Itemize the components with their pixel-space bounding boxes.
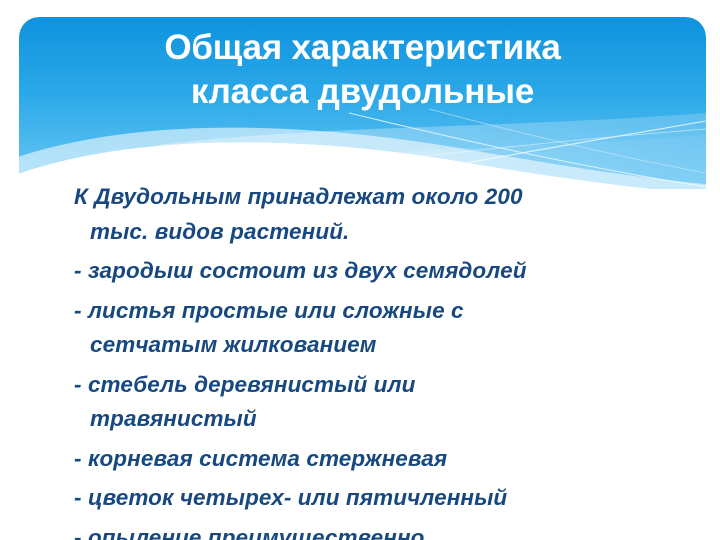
body-line: тыс. видов растений.: [74, 215, 674, 250]
title-banner: [19, 17, 706, 189]
slide: Общая характеристика класса двудольные К…: [0, 0, 720, 540]
slide-body: К Двудольным принадлежат около 200 тыс. …: [74, 180, 674, 540]
body-line: К Двудольным принадлежат около 200: [74, 180, 674, 215]
body-line: - стебель деревянистый или: [74, 368, 674, 403]
body-line: травянистый: [74, 402, 674, 437]
body-line: - корневая система стержневая: [74, 442, 674, 477]
title-banner-artwork: [19, 17, 706, 189]
body-line: - зародыш состоит из двух семядолей: [74, 254, 674, 289]
body-line: - листья простые или сложные с: [74, 294, 674, 329]
body-line: - опыление преимущественно: [74, 521, 674, 540]
body-line: сетчатым жилкованием: [74, 328, 674, 363]
body-line: - цветок четырех- или пятичленный: [74, 481, 674, 516]
